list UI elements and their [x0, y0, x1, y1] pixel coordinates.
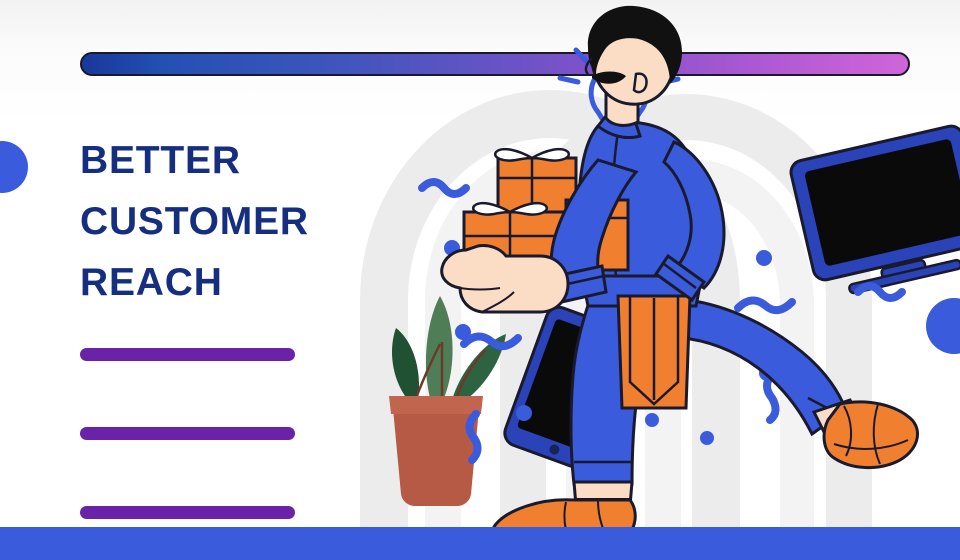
- laptop-monitor: [789, 124, 960, 301]
- slide-canvas: BETTER CUSTOMER REACH: [0, 0, 960, 560]
- decorative-circle-left: [0, 141, 28, 193]
- shopping-bag: [618, 296, 690, 408]
- hero-illustration: [330, 0, 960, 530]
- body-text-placeholder-1: [80, 348, 295, 361]
- floor-band: [0, 527, 960, 560]
- body-text-placeholder-2: [80, 427, 295, 440]
- body-text-placeholder-3: [80, 506, 295, 519]
